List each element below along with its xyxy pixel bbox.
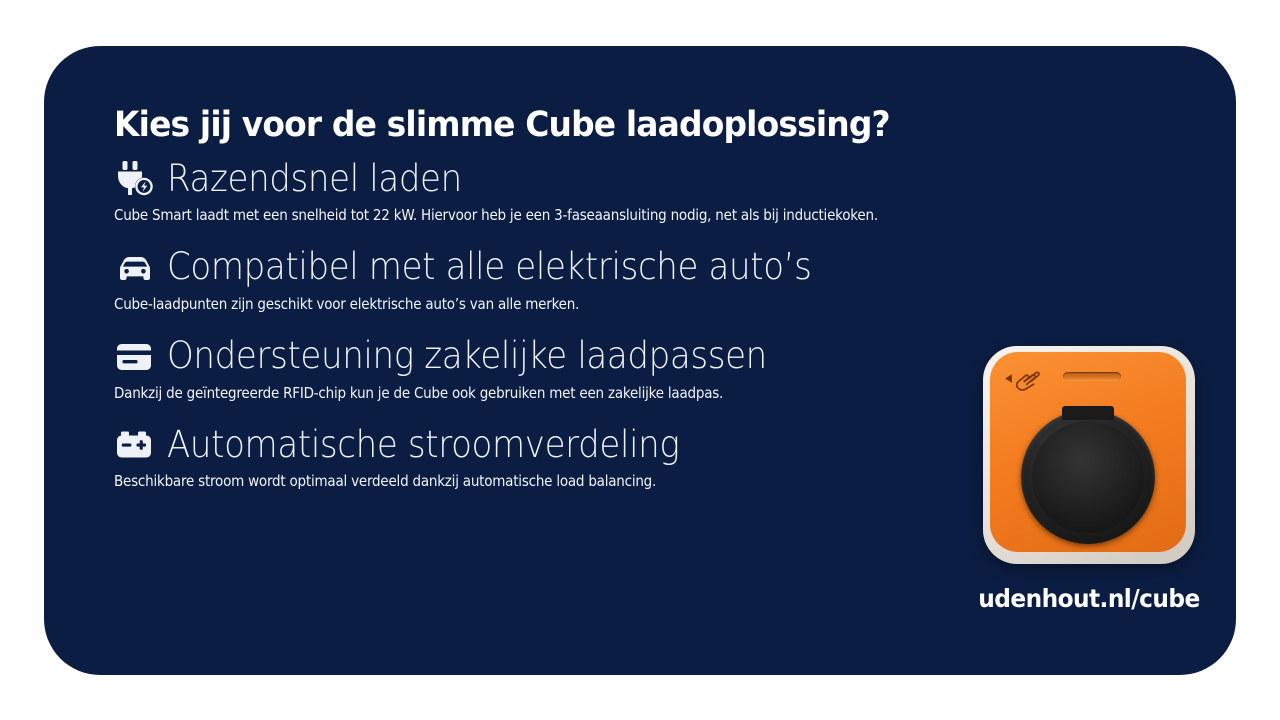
credit-card-icon: [114, 337, 158, 377]
feature-title: Ondersteuning zakelijke laadpassen: [167, 337, 767, 376]
charge-point-front-face: [990, 352, 1186, 552]
led-status-slot: [1063, 372, 1121, 381]
feature-title: Razendsnel laden: [167, 160, 462, 199]
page-title: Kies jij voor de slimme Cube laadoplossi…: [114, 108, 922, 143]
socket-cover-tab: [1062, 406, 1114, 420]
feature-block-stroomverdeling: Automatische stroomverdeling Beschikbare…: [114, 425, 974, 491]
feature-title: Automatische stroomverdeling: [167, 426, 679, 465]
feature-heading: Razendsnel laden: [114, 159, 974, 199]
feature-block-compatibel-auto-s: Compatibel met alle elektrische auto’s C…: [114, 248, 974, 314]
feature-description: Cube Smart laadt met een snelheid tot 22…: [114, 206, 888, 225]
plug-bolt-icon: [114, 159, 158, 199]
charge-point-image: [983, 346, 1195, 564]
socket-cover-inner: [1032, 421, 1144, 533]
feature-description: Dankzij de geïntegreerde RFID-chip kun j…: [114, 384, 888, 403]
feature-block-zakelijke-laadpassen: Ondersteuning zakelijke laadpassen Dankz…: [114, 337, 974, 403]
socket-cover: [1021, 410, 1155, 544]
rfid-hand-icon: [1003, 366, 1053, 394]
feature-heading: Automatische stroomverdeling: [114, 425, 974, 465]
feature-block-razendsnel-laden: Razendsnel laden Cube Smart laadt met ee…: [114, 159, 974, 225]
car-battery-icon: [114, 425, 158, 465]
feature-description: Beschikbare stroom wordt optimaal verdee…: [114, 472, 888, 491]
feature-heading: Ondersteuning zakelijke laadpassen: [114, 337, 974, 377]
feature-heading: Compatibel met alle elektrische auto’s: [114, 248, 974, 288]
promo-panel: Kies jij voor de slimme Cube laadoplossi…: [44, 46, 1236, 675]
car-front-icon: [114, 248, 158, 288]
content-column: Kies jij voor de slimme Cube laadoplossi…: [114, 108, 974, 491]
product-url-label: udenhout.nl/cube: [971, 584, 1207, 613]
feature-title: Compatibel met alle elektrische auto’s: [167, 248, 811, 287]
feature-description: Cube-laadpunten zijn geschikt voor elekt…: [114, 295, 888, 314]
product-column: udenhout.nl/cube: [962, 346, 1216, 613]
